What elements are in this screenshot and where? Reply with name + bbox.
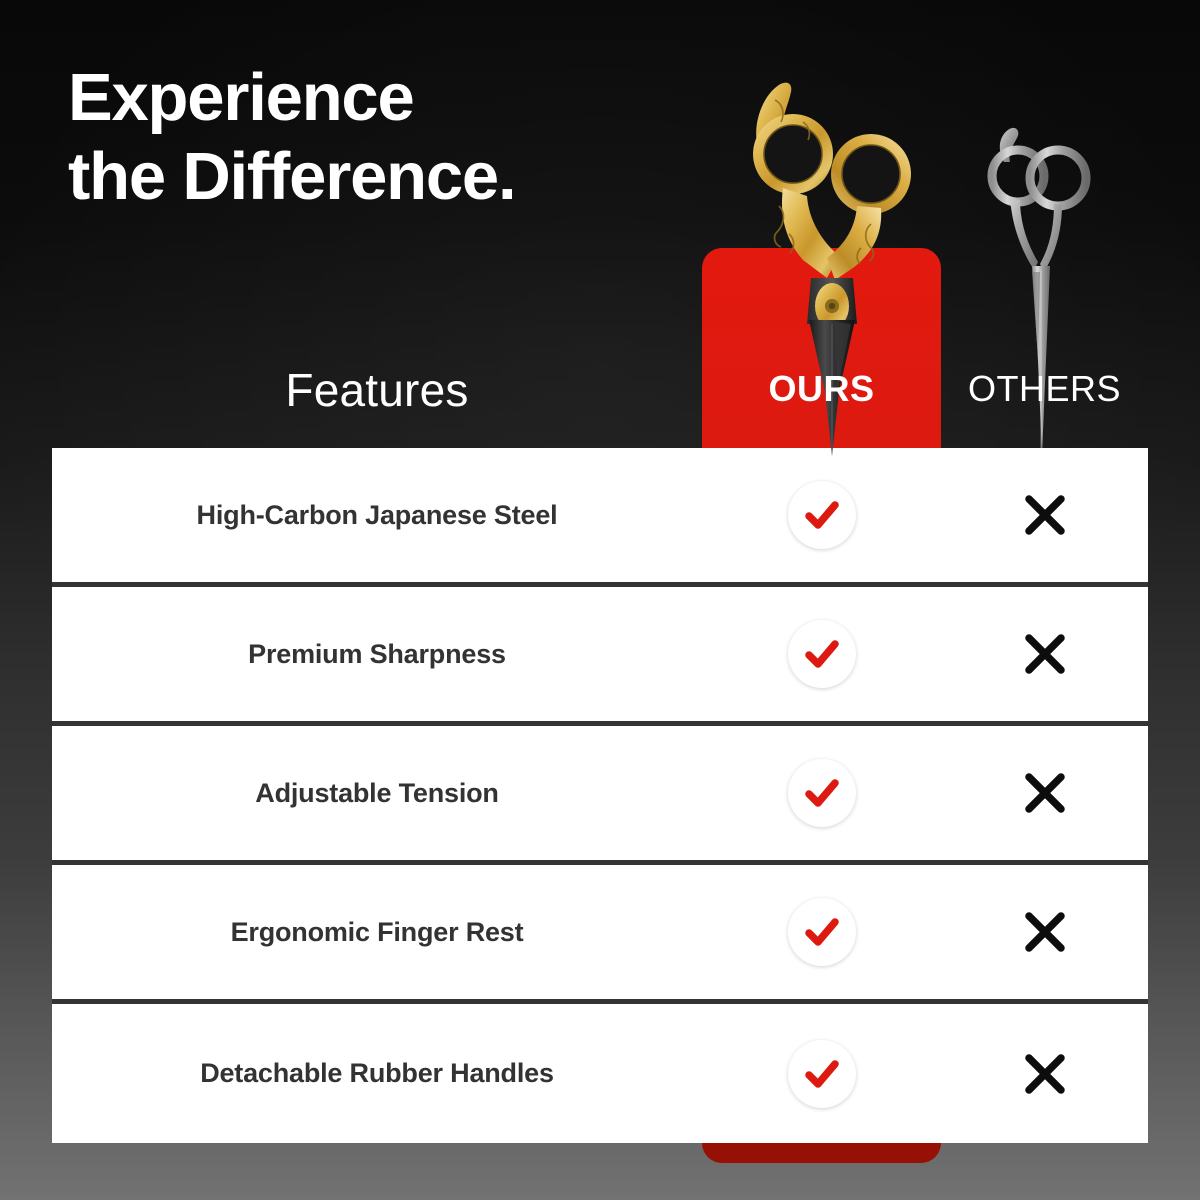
table-row: Premium Sharpness: [52, 587, 1148, 726]
others-cell: [941, 865, 1148, 999]
others-cell: [941, 1004, 1148, 1143]
others-cell: [941, 587, 1148, 721]
feature-label: Adjustable Tension: [52, 726, 702, 860]
feature-label: Ergonomic Finger Rest: [52, 865, 702, 999]
column-header-ours: OURS: [702, 368, 941, 410]
check-icon: [788, 620, 856, 688]
feature-label: Detachable Rubber Handles: [52, 1004, 702, 1143]
ours-cell: [702, 726, 941, 860]
page-title: Experience the Difference.: [68, 58, 515, 216]
feature-label: High-Carbon Japanese Steel: [52, 448, 702, 582]
ours-cell: [702, 865, 941, 999]
column-header-others: OTHERS: [941, 368, 1148, 410]
check-icon: [788, 898, 856, 966]
check-icon: [788, 759, 856, 827]
table-row: High-Carbon Japanese Steel: [52, 448, 1148, 587]
comparison-table: High-Carbon Japanese Steel Premium Sharp…: [52, 448, 1148, 1143]
check-icon: [788, 1040, 856, 1108]
ours-cell: [702, 448, 941, 582]
column-header-features: Features: [52, 363, 702, 417]
table-row: Ergonomic Finger Rest: [52, 865, 1148, 1004]
cross-icon: [1017, 487, 1073, 543]
feature-label: Premium Sharpness: [52, 587, 702, 721]
cross-icon: [1017, 626, 1073, 682]
cross-icon: [1017, 1046, 1073, 1102]
table-row: Adjustable Tension: [52, 726, 1148, 865]
ours-cell: [702, 1004, 941, 1143]
others-cell: [941, 448, 1148, 582]
ours-cell: [702, 587, 941, 721]
cross-icon: [1017, 765, 1073, 821]
table-row: Detachable Rubber Handles: [52, 1004, 1148, 1143]
cross-icon: [1017, 904, 1073, 960]
others-cell: [941, 726, 1148, 860]
check-icon: [788, 481, 856, 549]
